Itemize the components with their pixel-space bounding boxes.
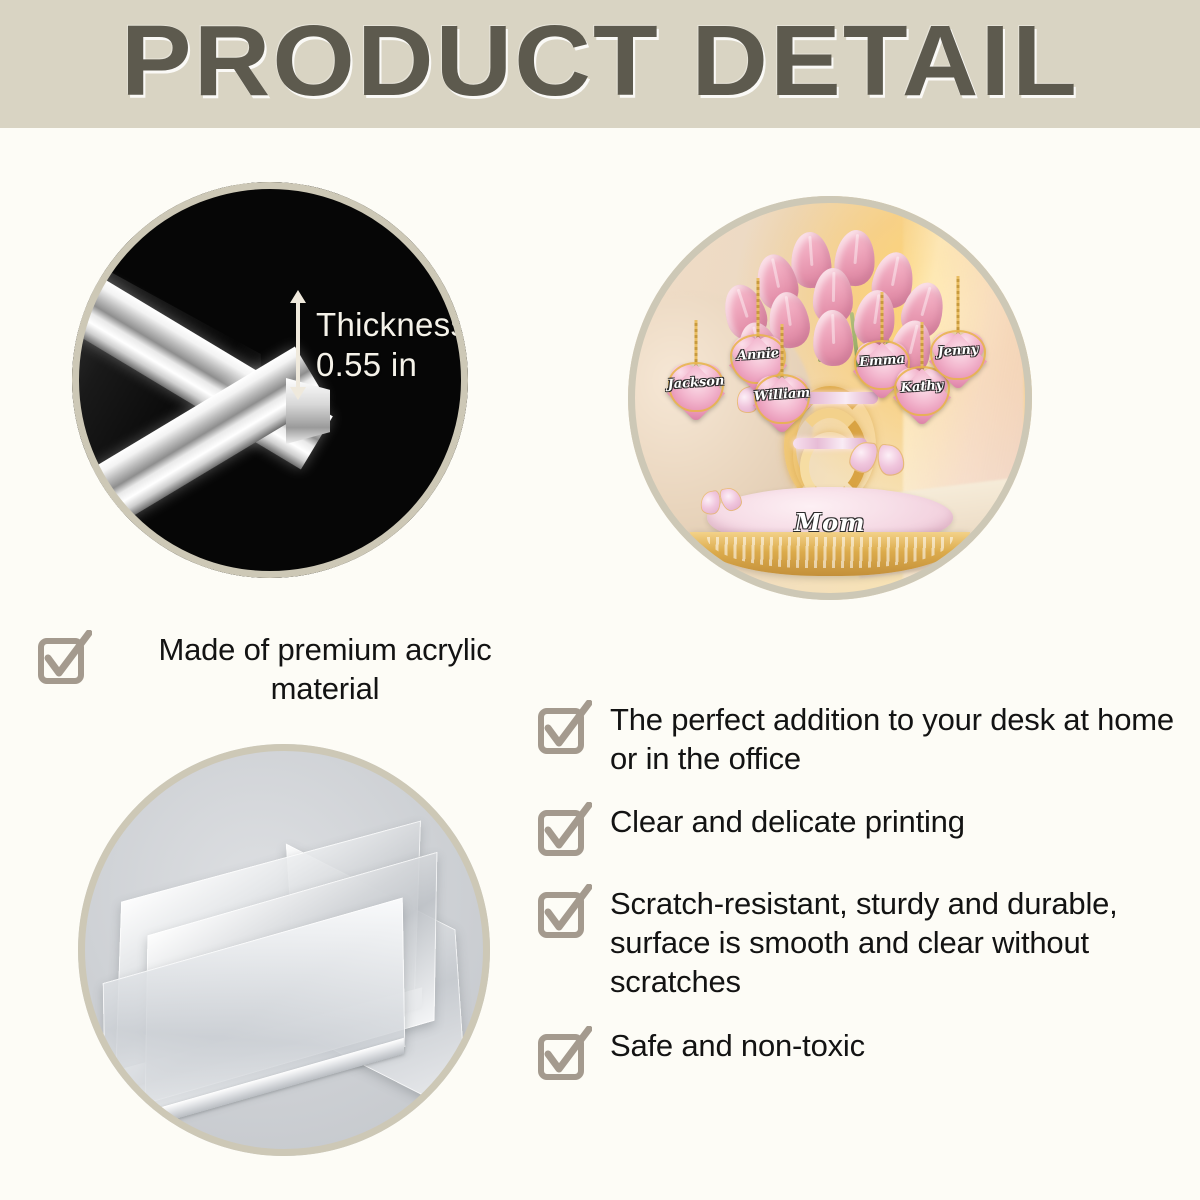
heart-icon: Jackson: [670, 364, 722, 410]
product-photo-image: Jackson Annie William Emma: [628, 196, 1032, 600]
feature-label: Clear and delicate printing: [610, 802, 965, 841]
heart-charm: Jackson: [670, 364, 722, 410]
butterfly-icon: [848, 440, 906, 479]
base-plaque-text: Mom: [795, 508, 866, 537]
checkmark-icon: [36, 630, 92, 686]
feature-label: Scratch-resistant, sturdy and durable, s…: [610, 884, 1196, 1001]
feature-label: The perfect addition to your desk at hom…: [610, 700, 1196, 778]
heart-icon: William: [756, 376, 808, 422]
double-arrow-icon: [290, 290, 306, 400]
feature-label: Safe and non-toxic: [610, 1026, 865, 1065]
feature-label: Made of premium acrylic material: [110, 630, 540, 708]
checkmark-icon: [536, 1026, 592, 1082]
checkmark-icon: [536, 802, 592, 858]
feature-item-printing: Clear and delicate printing: [536, 802, 1196, 858]
heart-charm: Jenny: [932, 332, 984, 378]
heart-icon: Jenny: [932, 332, 984, 378]
checkmark-icon: [536, 884, 592, 940]
thickness-label: Thickness 0.55 in: [316, 305, 467, 386]
thickness-label-line1: Thickness: [316, 305, 467, 345]
product-detail-infographic: PRODUCT DETAIL Thickness 0.55 in: [0, 0, 1200, 1200]
acrylic-edge-closeup-image: Thickness 0.55 in: [72, 182, 468, 578]
base-gold-rim: [690, 532, 970, 576]
feature-item-safe: Safe and non-toxic: [536, 1026, 1196, 1082]
page-title: PRODUCT DETAIL: [121, 11, 1079, 117]
header-band: PRODUCT DETAIL: [0, 0, 1200, 128]
thickness-callout: Thickness 0.55 in: [290, 290, 467, 400]
feature-item-desk: The perfect addition to your desk at hom…: [536, 700, 1196, 778]
checkmark-icon: [536, 700, 592, 756]
feature-item-material: Made of premium acrylic material: [36, 630, 556, 708]
heart-charm: William: [756, 376, 808, 422]
feature-item-scratch: Scratch-resistant, sturdy and durable, s…: [536, 884, 1196, 1001]
thickness-label-line2: 0.55 in: [316, 345, 467, 385]
acrylic-sheets-image: [78, 744, 490, 1156]
